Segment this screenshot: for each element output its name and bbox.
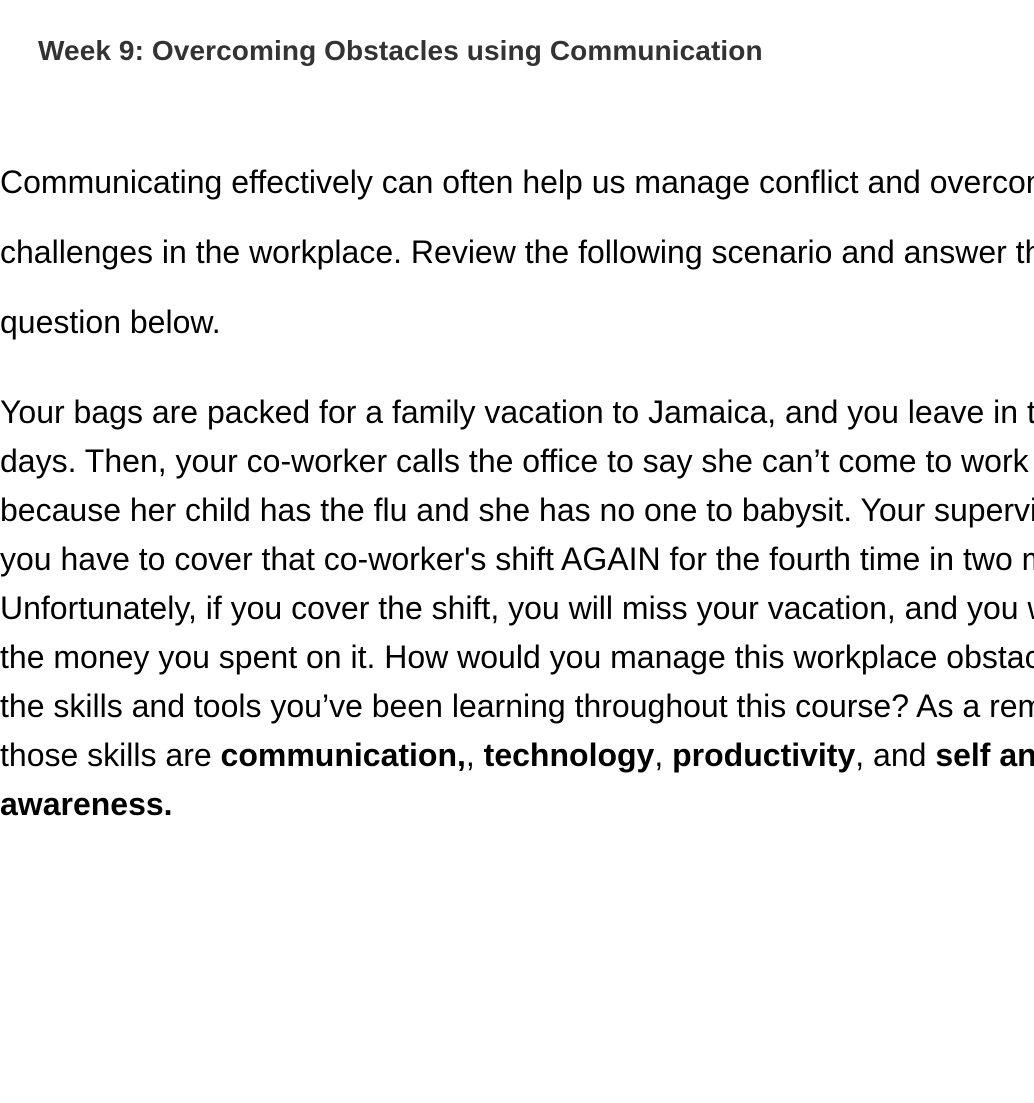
skill-productivity: productivity [672,737,855,773]
intro-paragraph: Communicating effectively can often help… [0,147,1034,357]
skill-separator-1: , [466,737,484,773]
skill-communication: communication, [221,737,466,773]
scenario-paragraph: Your bags are packed for a family vacati… [0,388,1034,829]
document-content: Week 9: Overcoming Obstacles using Commu… [0,0,1034,679]
skill-separator-3: , and [855,737,935,773]
scenario-body-text: Your bags are packed for a family vacati… [0,394,1034,773]
document-page: Week 9: Overcoming Obstacles using Commu… [0,0,1034,1103]
skill-separator-2: , [654,737,672,773]
page-title: Week 9: Overcoming Obstacles using Commu… [0,37,1034,65]
skill-technology: technology [484,737,655,773]
